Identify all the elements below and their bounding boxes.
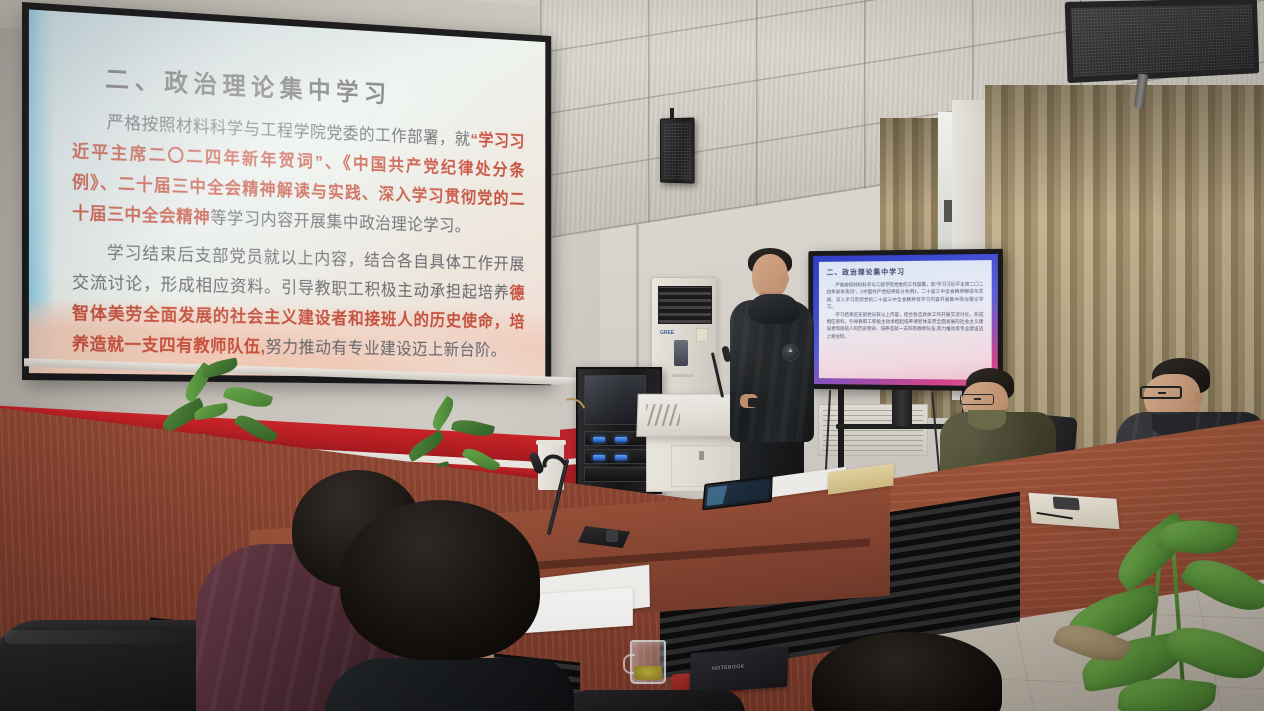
rack-led-indicator <box>615 455 627 460</box>
tv-slide-paragraph-1: 严格按照材料科学与工程学院党委的工作部署，就“学习习近平主席二〇二四年新年贺词”… <box>827 280 984 310</box>
tv-mount-bracket <box>892 390 912 426</box>
presenter-person <box>724 248 820 473</box>
presentation-remote[interactable] <box>748 398 760 407</box>
presenter-jacket-sleeve-patch <box>782 344 799 361</box>
attendee-foreground-right <box>812 632 1002 711</box>
presenter-ear <box>782 274 789 284</box>
slide-run-1c: 等学习内容开展集中政治理论学习。 <box>210 208 470 236</box>
slide-run-2c: 努力推动有专业建设迈上新台阶。 <box>266 337 507 360</box>
rack-unit-2 <box>584 449 654 464</box>
podium-vent-slots <box>646 404 680 426</box>
air-conditioner-label <box>696 328 708 342</box>
tv-slide-paragraph-2: 学习结束后支部党员就以上内容，结合各自具体工作开展交流讨论，形成相应资料。引导教… <box>827 310 984 340</box>
tea-leaves <box>634 666 662 680</box>
tv-slide-title: 二、政治理论集中学习 <box>827 266 984 277</box>
plant-leaf <box>223 382 274 412</box>
rack-unit-3 <box>584 467 654 482</box>
podium-door-handle[interactable] <box>699 451 704 460</box>
rack-led-indicator <box>593 437 605 442</box>
slide-paragraph-1: 严格按照材料科学与工程学院党委的工作部署，就“学习习近平主席二〇二四年新年贺词”… <box>72 105 525 243</box>
speaker-mesh-right <box>1071 4 1253 76</box>
attendee-foreground-center-hair <box>340 500 540 660</box>
air-conditioner-display-panel[interactable] <box>674 340 688 366</box>
plant-leaf-large <box>1179 547 1264 624</box>
rack-led-indicator <box>615 437 627 442</box>
slide-paragraph-2: 学习结束后支部党员就以上内容，结合各自具体工作开展交流讨论，形成相应资料。引导教… <box>72 237 525 366</box>
air-conditioner-vent-grill <box>658 286 712 324</box>
wall-speaker-right <box>1065 0 1260 83</box>
presenter-jacket-hood <box>748 294 800 324</box>
tv-screen: 二、政治理论集中学习 严格按照材料科学与工程学院党委的工作部署，就“学习习近平主… <box>813 254 998 386</box>
plant-leaf <box>405 430 447 462</box>
tv-slide-content: 二、政治理论集中学习 严格按照材料科学与工程学院党委的工作部署，就“学习习近平主… <box>819 260 992 380</box>
paper-bin-rim <box>536 440 566 445</box>
attendee-olive-collar <box>968 410 1006 430</box>
attendee-puffer-ear <box>1194 392 1203 405</box>
glasses-icon <box>1140 386 1182 399</box>
projection-screen-surface: 二、政治理论集中学习 严格按照材料科学与工程学院党委的工作部署，就“学习习近平主… <box>29 9 545 378</box>
tablet-screen[interactable] <box>706 480 769 506</box>
plant-leaf <box>201 357 239 378</box>
attendee-foreground-center-body <box>324 658 574 711</box>
air-conditioner-logo: GREE <box>660 330 674 336</box>
projection-screen: 二、政治理论集中学习 严格按照材料科学与工程学院党委的工作部署，就“学习习近平主… <box>22 2 551 385</box>
rack-led-indicator <box>593 455 605 460</box>
plant-leaf <box>451 416 495 440</box>
office-chair-foreground-left <box>0 620 220 711</box>
slide-title: 二、政治理论集中学习 <box>105 60 391 110</box>
attendee-foreground-center <box>310 500 570 711</box>
conference-microphone-button[interactable] <box>606 530 618 542</box>
dark-notebook: NOTEBOOK <box>689 646 788 693</box>
wall-speaker-left <box>660 117 695 183</box>
slide-run-2a: 学习结束后支部党员就以上内容，结合各自具体工作开展交流讨论，形成相应资料。引导教… <box>72 243 525 303</box>
glasses-icon <box>960 394 994 405</box>
office-chair-foreground-center <box>565 690 745 711</box>
air-conditioner-slot <box>672 374 694 377</box>
slide-run-1a: 严格按照材料科学与工程学院党委的工作部署，就 <box>107 112 471 149</box>
potted-plant-right <box>1055 500 1264 711</box>
notebook-cover-text: NOTEBOOK <box>712 664 744 672</box>
attendee-foreground-right-hair <box>812 632 1002 711</box>
glass-tea-cup <box>630 640 666 684</box>
speaker-mesh-left <box>664 122 691 180</box>
meeting-room-scene: 二、政治理论集中学习 严格按照材料科学与工程学院党委的工作部署，就“学习习近平主… <box>0 0 1264 711</box>
slide-body: 严格按照材料科学与工程学院党委的工作部署，就“学习习近平主席二〇二四年新年贺词”… <box>72 105 525 367</box>
